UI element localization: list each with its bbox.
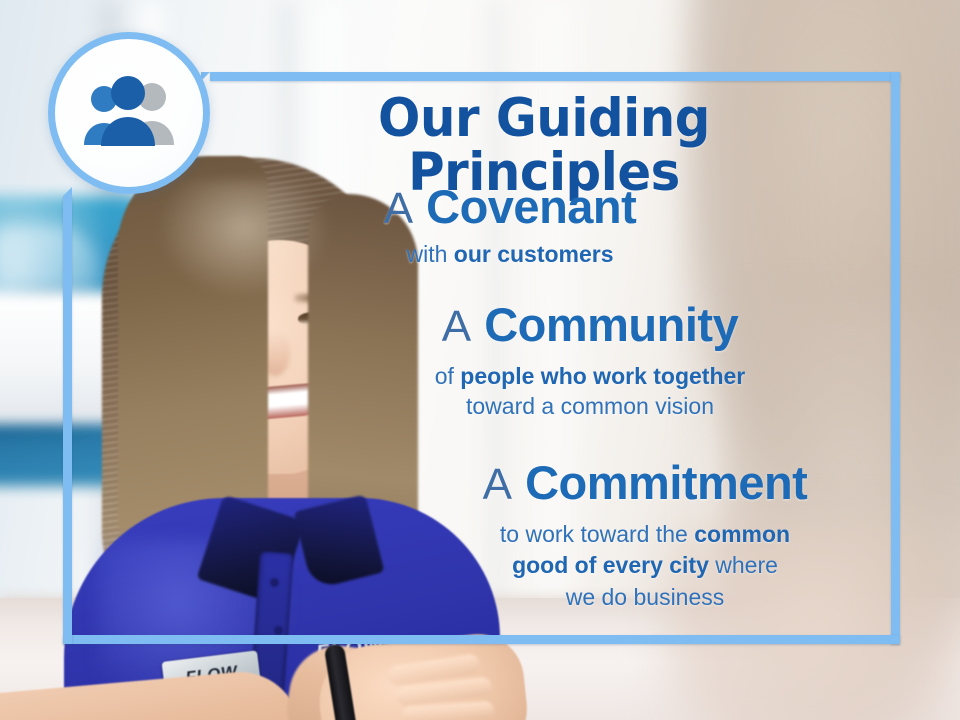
principle-commitment-article: A: [483, 460, 512, 509]
subtitle-text: to work toward the: [500, 521, 694, 547]
principle-covenant-article: A: [384, 184, 413, 233]
subtitle-emphasis: people who work together: [460, 363, 745, 389]
subtitle-line: with our customers: [300, 239, 720, 270]
subtitle-text: toward a common vision: [466, 393, 714, 419]
subtitle-line: toward a common vision: [360, 391, 820, 421]
principle-commitment-subtitle: to work toward the commongood of every c…: [410, 519, 880, 614]
subtitle-text: with: [406, 241, 453, 267]
subtitle-emphasis: common: [694, 521, 790, 547]
principle-covenant-title: A Covenant: [300, 182, 720, 233]
principle-community-noun: Community: [484, 298, 738, 351]
subtitle-line: good of every city where: [410, 550, 880, 582]
principle-community-article: A: [442, 302, 471, 351]
principle-community: A Community of people who work togethert…: [360, 300, 820, 421]
principle-commitment-noun: Commitment: [525, 456, 807, 509]
subtitle-text: we do business: [566, 584, 725, 610]
subtitle-emphasis: good of every city: [512, 552, 709, 578]
subtitle-line: of people who work together: [360, 361, 820, 391]
subtitle-line: to work toward the common: [410, 519, 880, 551]
principle-commitment-title: A Commitment: [410, 458, 880, 509]
principle-community-title: A Community: [360, 300, 820, 351]
subtitle-emphasis: our customers: [454, 241, 614, 267]
subtitle-line: we do business: [410, 582, 880, 614]
principle-community-subtitle: of people who work togethertoward a comm…: [360, 361, 820, 422]
principle-covenant-subtitle: with our customers: [300, 239, 720, 270]
principle-commitment: A Commitment to work toward the commongo…: [410, 458, 880, 614]
subtitle-text: of: [435, 363, 461, 389]
subtitle-text: where: [709, 552, 778, 578]
principle-covenant: A Covenant with our customers: [300, 182, 720, 269]
text-content: Our Guiding Principles A Covenant with o…: [0, 0, 960, 720]
guiding-principles-graphic: FLOW AUTOMOTIVE FLOW: [0, 0, 960, 720]
principle-covenant-noun: Covenant: [426, 180, 636, 233]
